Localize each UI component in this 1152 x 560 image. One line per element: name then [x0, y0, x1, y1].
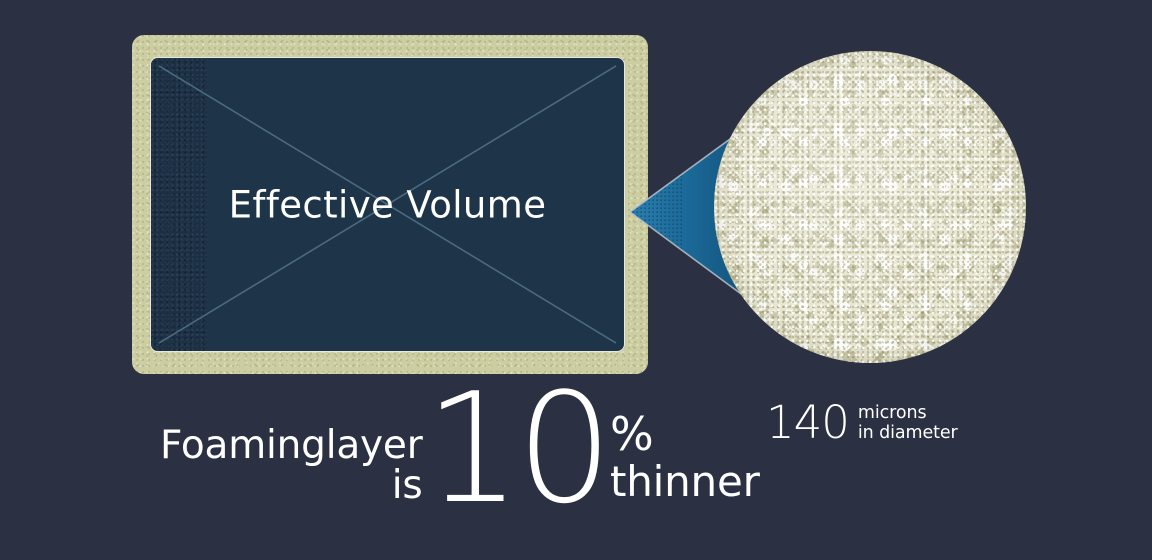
headline-word-line1: Foaminglayer: [160, 426, 423, 466]
foam-shading-overlay: [714, 51, 1026, 363]
effective-volume-box: Effective Volume: [132, 35, 648, 374]
caption-unit: microns in diameter: [858, 400, 958, 444]
headline-percent-symbol: %: [610, 410, 654, 458]
headline-words: Foaminglayer is: [160, 396, 423, 506]
headline-percentage-number: 10: [425, 390, 608, 509]
caption-unit-line1: microns: [858, 403, 958, 423]
headline-tail: % thinner: [610, 396, 760, 504]
headline-tail-word: thinner: [610, 460, 760, 504]
infographic-canvas: Effective Volume Fo: [0, 0, 1152, 560]
headline-statement: Foaminglayer is 10 % thinner: [160, 396, 760, 509]
headline-word-line2: is: [392, 466, 423, 506]
diameter-caption: 140 microns in diameter: [766, 400, 958, 445]
effective-volume-panel: Effective Volume: [150, 57, 625, 352]
caption-number: 140: [766, 400, 849, 445]
caption-unit-line2: in diameter: [858, 423, 958, 443]
foam-microstructure-circle: [714, 51, 1026, 363]
effective-volume-label: Effective Volume: [151, 183, 624, 226]
